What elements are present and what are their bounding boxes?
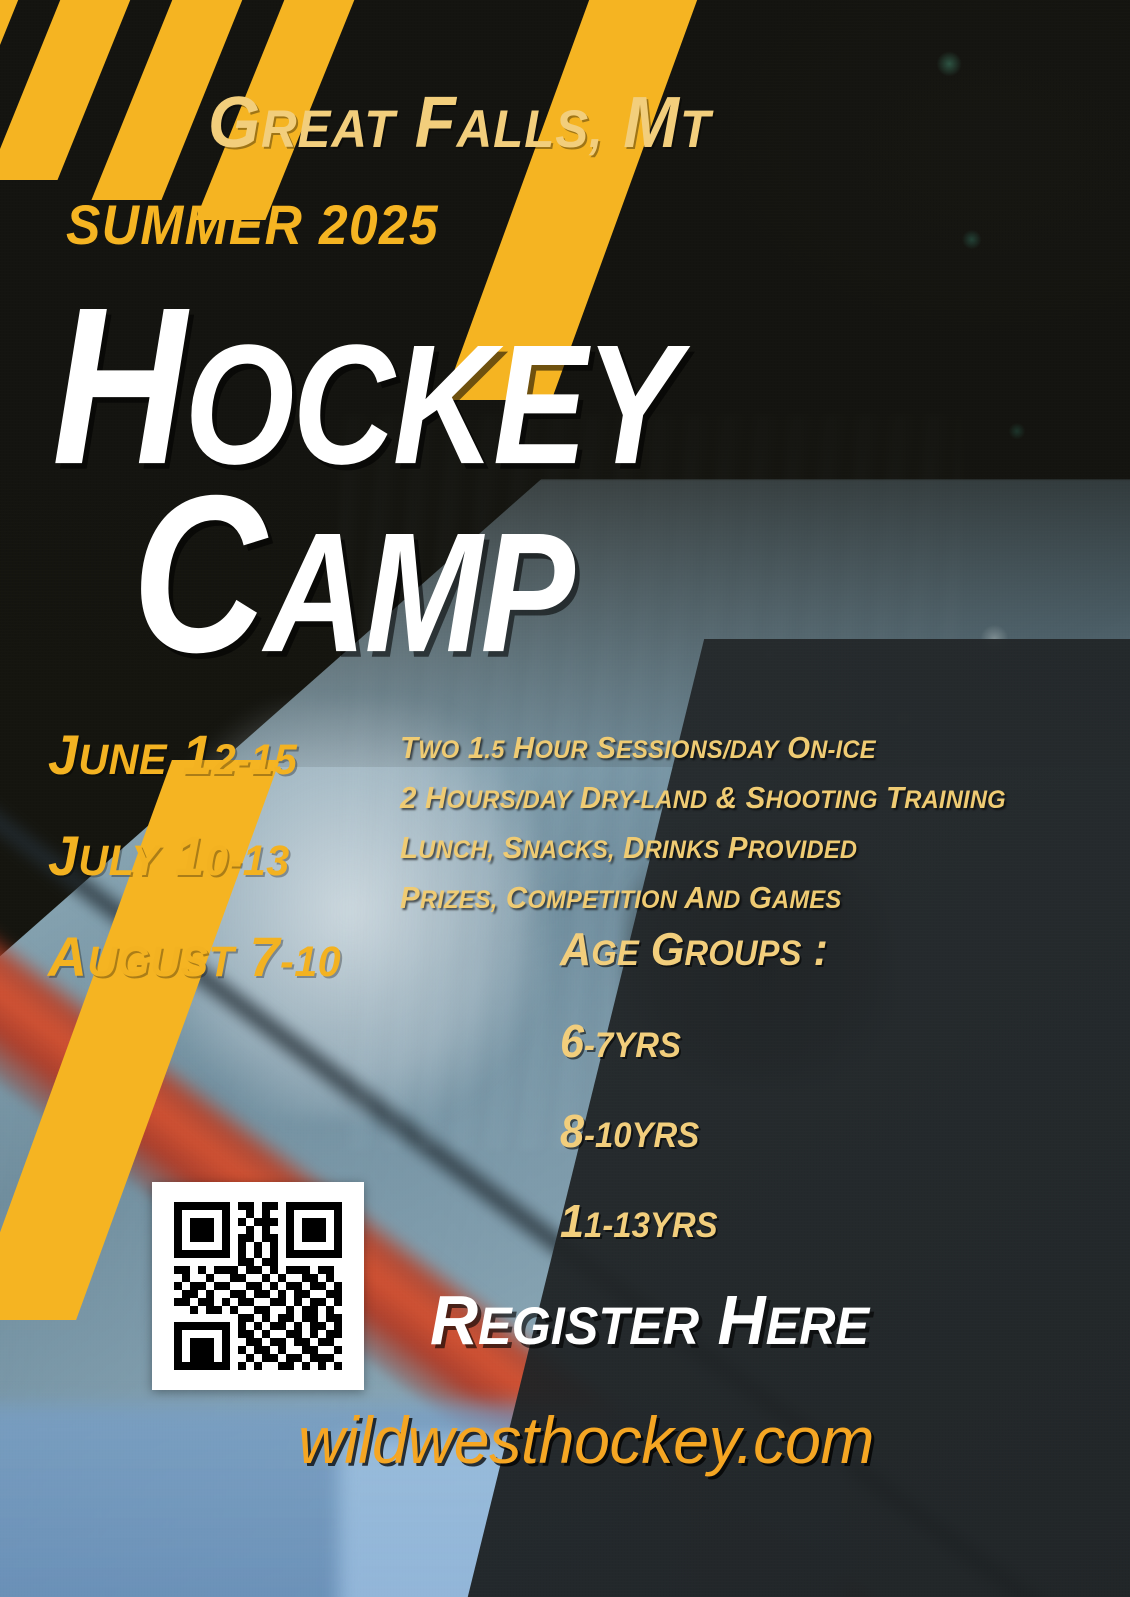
feature-item: LUNCH, SNACKS, DRINKS PROVIDED [400, 830, 1006, 866]
camp-dates-list: JUNE 12-15 JULY 10-13 AUGUST 7-10 [48, 722, 353, 1025]
season-heading: SUMMER 2025 [66, 192, 439, 257]
age-group-item: 8-10YRS [560, 1104, 828, 1158]
website-url-link[interactable]: wildwesthockey.com [298, 1402, 874, 1478]
page-title-line-2: CAMP [132, 463, 573, 687]
register-heading: REGISTER HERE [430, 1280, 869, 1360]
features-list: TWO 1.5 HOUR SESSIONS/DAY ON-ICE 2 HOURS… [400, 730, 1038, 930]
qr-code-card[interactable] [152, 1182, 364, 1390]
age-group-item: 6-7YRS [560, 1014, 828, 1068]
feature-item: TWO 1.5 HOUR SESSIONS/DAY ON-ICE [400, 730, 1006, 766]
age-groups-heading: AGE GROUPS : [560, 922, 828, 976]
feature-item: 2 HOURS/DAY DRY-LAND & SHOOTING TRAINING [400, 780, 1006, 816]
camp-date-item: AUGUST 7-10 [48, 924, 341, 989]
location-heading: GREAT FALLS, MT [208, 82, 711, 164]
qr-code-icon[interactable] [174, 1202, 342, 1370]
age-group-item: 11-13YRS [560, 1194, 828, 1248]
age-groups-block: AGE GROUPS : 6-7YRS 8-10YRS 11-13YRS [560, 922, 845, 1284]
website-url-text: wildwesthockey.com [298, 1403, 874, 1477]
feature-item: PRIZES, COMPETITION AND GAMES [400, 880, 1006, 916]
camp-date-item: JULY 10-13 [48, 823, 341, 888]
poster-canvas: GREAT FALLS, MT SUMMER 2025 HOCKEY CAMP … [0, 0, 1130, 1597]
camp-date-item: JUNE 12-15 [48, 722, 341, 787]
